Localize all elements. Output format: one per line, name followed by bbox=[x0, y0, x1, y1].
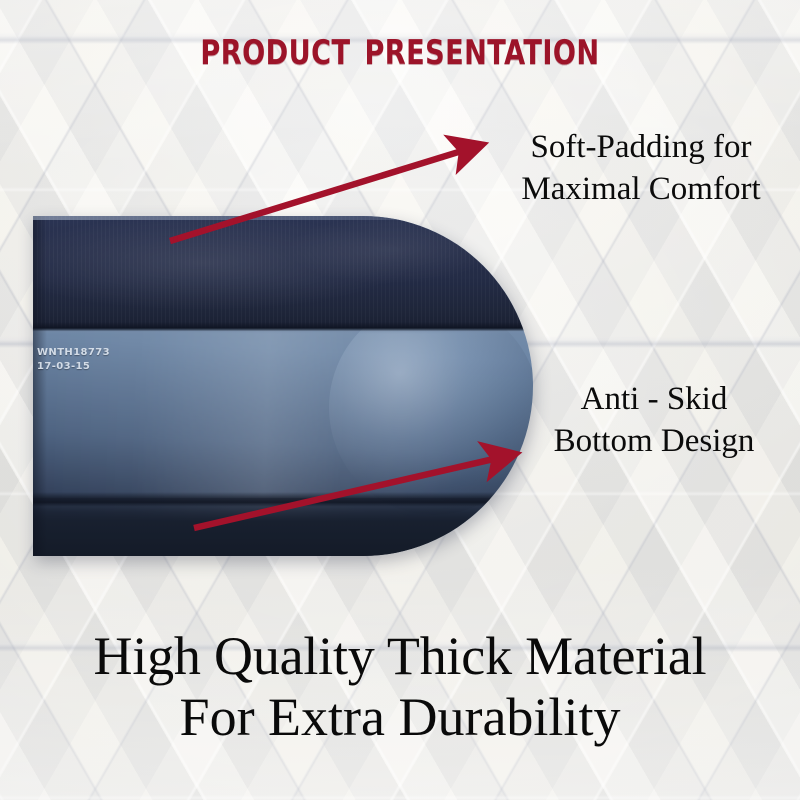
callout-soft-padding-line2: Maximal Comfort bbox=[486, 168, 796, 210]
page-title: Product Presentation bbox=[80, 22, 720, 74]
product-seam bbox=[33, 322, 533, 334]
product-velvet-texture bbox=[33, 216, 533, 328]
footer-headline-line2: For Extra Durability bbox=[0, 687, 800, 748]
footer-headline-line1: High Quality Thick Material bbox=[0, 626, 800, 687]
product-label-date: 17-03-15 bbox=[37, 360, 110, 374]
callout-anti-skid-line2: Bottom Design bbox=[512, 420, 796, 462]
product-label-code: WNTH18773 bbox=[37, 346, 110, 360]
product-printed-label: WNTH18773 17-03-15 bbox=[37, 346, 110, 374]
product-presentation-slide: Product Presentation WNTH18773 17-03-15 bbox=[0, 0, 800, 800]
footer-headline: High Quality Thick Material For Extra Du… bbox=[0, 626, 800, 748]
product-body: WNTH18773 17-03-15 bbox=[33, 216, 533, 556]
callout-anti-skid: Anti - Skid Bottom Design bbox=[512, 378, 796, 462]
callout-anti-skid-line1: Anti - Skid bbox=[512, 378, 796, 420]
product-top-highlight bbox=[33, 216, 533, 220]
product-velvet-top bbox=[33, 216, 533, 328]
product-bottom-panel bbox=[33, 498, 533, 556]
product-left-edge-shadow bbox=[33, 216, 47, 556]
product-image: WNTH18773 17-03-15 bbox=[33, 216, 533, 556]
callout-soft-padding: Soft-Padding for Maximal Comfort bbox=[486, 126, 796, 210]
callout-soft-padding-line1: Soft-Padding for bbox=[486, 126, 796, 168]
